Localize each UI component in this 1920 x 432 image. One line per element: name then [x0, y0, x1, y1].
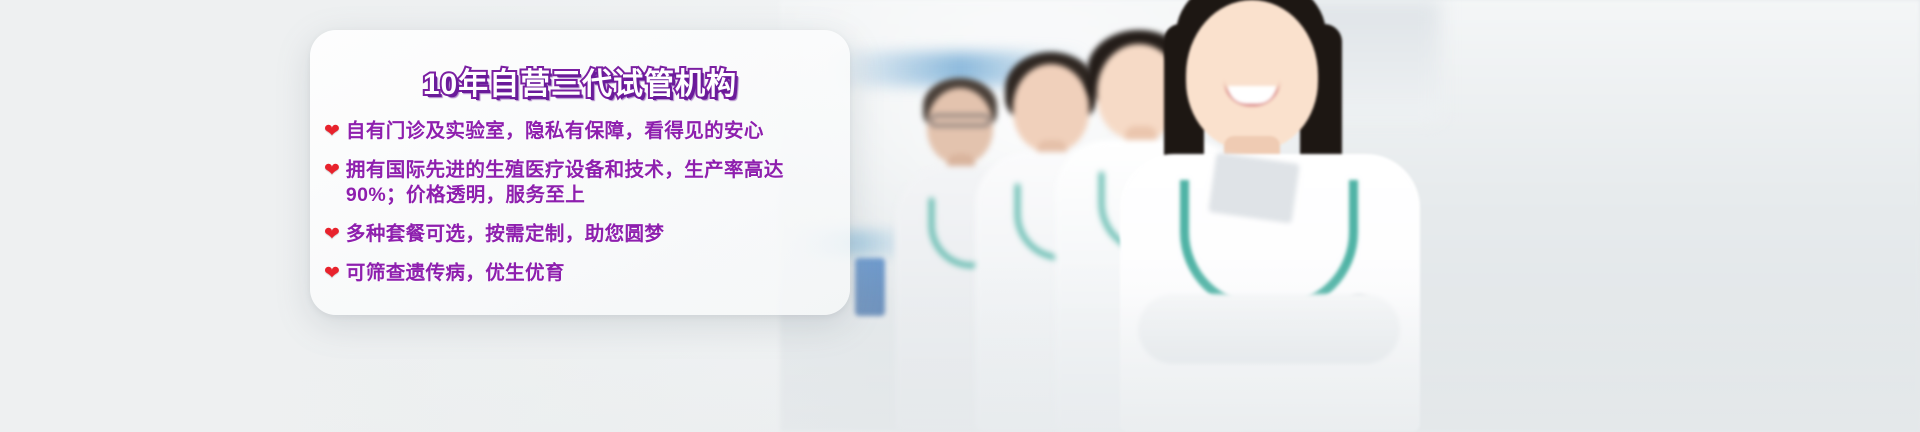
list-item-label: 自有门诊及实验室，隐私有保障，看得见的安心: [346, 119, 764, 144]
heart-icon: ❤: [324, 119, 340, 144]
list-item: ❤ 拥有国际先进的生殖医疗设备和技术，生产率高达90%；价格透明，服务至上: [324, 158, 850, 208]
promo-banner: 10年自营三代试管机构 ❤ 自有门诊及实验室，隐私有保障，看得见的安心 ❤ 拥有…: [0, 0, 1920, 432]
list-item: ❤ 多种套餐可选，按需定制，助您圆梦: [324, 222, 850, 247]
list-item-label: 拥有国际先进的生殖医疗设备和技术，生产率高达90%；价格透明，服务至上: [346, 158, 842, 208]
background-fade-overlay: [0, 0, 1920, 432]
list-item-label: 可筛查遗传病，优生优育: [346, 261, 565, 286]
list-item: ❤ 可筛查遗传病，优生优育: [324, 261, 850, 286]
list-item-label: 多种套餐可选，按需定制，助您圆梦: [346, 222, 664, 247]
heart-icon: ❤: [324, 158, 340, 183]
heart-icon: ❤: [324, 261, 340, 286]
heart-icon: ❤: [324, 222, 340, 247]
feature-bullet-list: ❤ 自有门诊及实验室，隐私有保障，看得见的安心 ❤ 拥有国际先进的生殖医疗设备和…: [324, 119, 850, 286]
banner-title: 10年自营三代试管机构: [310, 59, 850, 103]
list-item: ❤ 自有门诊及实验室，隐私有保障，看得见的安心: [324, 119, 850, 144]
info-card: 10年自营三代试管机构 ❤ 自有门诊及实验室，隐私有保障，看得见的安心 ❤ 拥有…: [310, 30, 850, 315]
